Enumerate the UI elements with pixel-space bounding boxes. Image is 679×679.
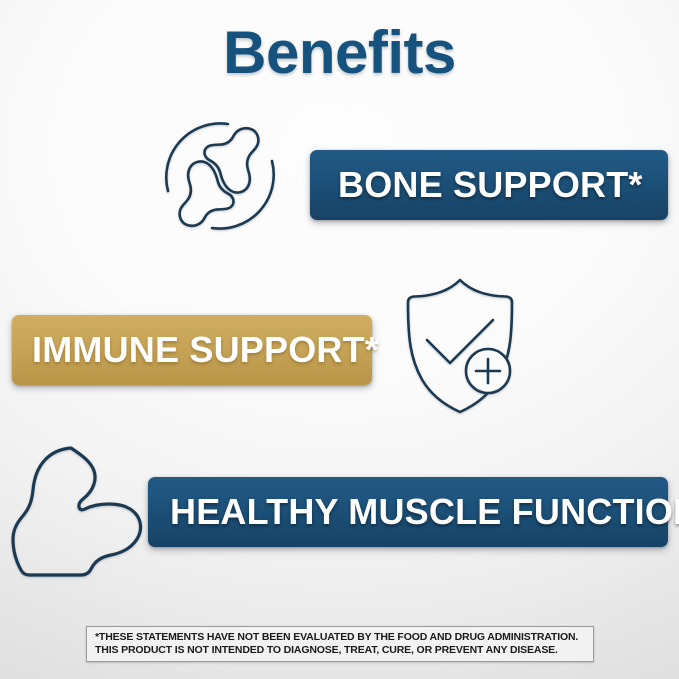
benefit-label-muscle: HEALTHY MUSCLE FUNCTION*: [170, 491, 679, 533]
benefit-banner-bone[interactable]: BONE SUPPORT*: [310, 150, 668, 220]
benefit-banner-immune[interactable]: IMMUNE SUPPORT*: [12, 315, 372, 385]
disclaimer-line-1: *THESE STATEMENTS HAVE NOT BEEN EVALUATE…: [95, 631, 587, 644]
fda-disclaimer: *THESE STATEMENTS HAVE NOT BEEN EVALUATE…: [86, 626, 594, 662]
disclaimer-line-2: THIS PRODUCT IS NOT INTENDED TO DIAGNOSE…: [95, 644, 587, 657]
benefit-banner-muscle[interactable]: HEALTHY MUSCLE FUNCTION*: [148, 477, 668, 547]
benefit-label-bone: BONE SUPPORT*: [338, 164, 643, 206]
shield-check-plus-icon: [392, 272, 528, 414]
benefit-label-immune: IMMUNE SUPPORT*: [32, 329, 379, 371]
page-title: Benefits: [0, 18, 679, 87]
benefits-infographic: Benefits BONE SUPPORT* IMMUNE SUPPORT*: [0, 0, 679, 679]
flexed-bicep-icon: [8, 438, 148, 580]
bone-in-circle-icon: [152, 108, 288, 244]
